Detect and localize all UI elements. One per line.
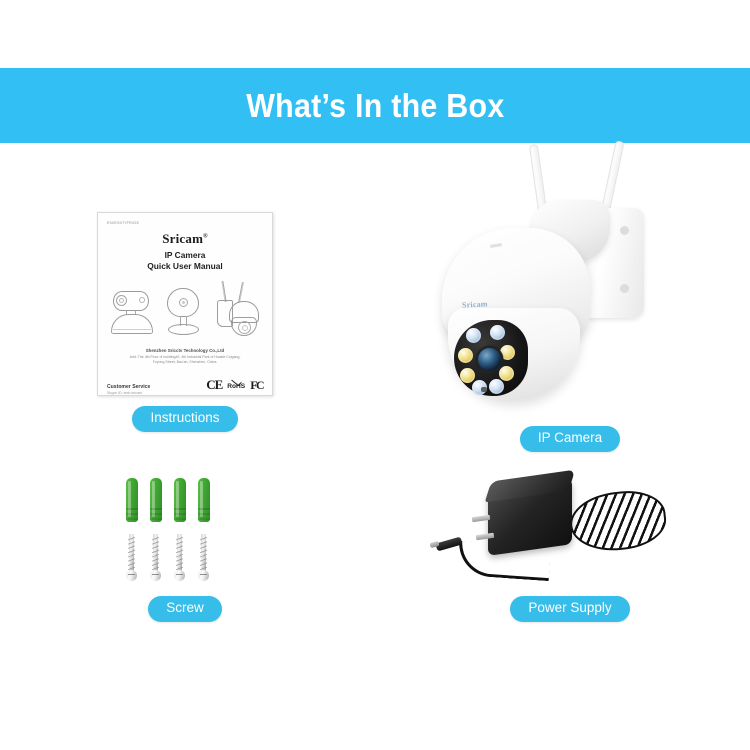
camera-led-4 [500, 345, 515, 360]
manual-brand-logo: Sricam® [107, 231, 263, 247]
ptz-dome-camera-image: Sricam [428, 140, 718, 420]
box-item-ip-camera: Sricam IP Camera [420, 140, 720, 460]
page-title: What’s In the Box [246, 87, 504, 125]
manual-address-line-2: Fuyong Street, Bao'an, Shenzhen, China. [107, 360, 263, 365]
screw-1 [126, 534, 137, 584]
instructions-artwork: EN/ES/IT/FR/DE Sricam® IP Camera Quick U… [40, 190, 330, 400]
camera-led-3 [458, 348, 473, 363]
manual-footer: Customer Service Skype ID: tech.sricam W… [107, 378, 263, 396]
camera-led-6 [499, 366, 514, 381]
outdoor-ptz-camera-icon [209, 281, 261, 341]
dc-barrel-connector [435, 537, 462, 552]
screw-2 [150, 534, 161, 584]
instruction-manual-booklet: EN/ES/IT/FR/DE Sricam® IP Camera Quick U… [97, 212, 273, 396]
screw-4 [198, 534, 209, 584]
manual-figure-row [107, 279, 263, 341]
manual-product-type: IP Camera [107, 250, 263, 260]
box-item-power-supply: Power Supply [420, 470, 720, 640]
caption-screw: Screw [148, 596, 222, 622]
header-banner: What’s In the Box [0, 68, 750, 143]
manual-document-title: Quick User Manual [107, 261, 263, 271]
box-item-screw: Screw [40, 470, 330, 640]
whats-in-the-box-infographic: What’s In the Box EN/ES/IT/FR/DE Sricam®… [0, 0, 750, 750]
box-item-instructions: EN/ES/IT/FR/DE Sricam® IP Camera Quick U… [40, 190, 330, 460]
hardware-group [40, 470, 330, 595]
screw-artwork [40, 470, 330, 590]
manual-registered-mark: ® [203, 234, 208, 240]
rohs-mark-icon: RoHS [227, 384, 245, 391]
ce-mark-icon: CE [206, 378, 222, 391]
camera-led-1 [466, 328, 481, 343]
manual-address: Add: The 4th Floor of building49, 4th In… [107, 355, 263, 366]
fcc-mark-icon: FC [250, 379, 263, 391]
manual-company-name: Shenzhen Sricctv Technology Co.,Ltd [107, 348, 263, 353]
camera-light-sensor [481, 387, 487, 392]
customer-service-skype: Skype ID: tech.sricam [107, 390, 153, 396]
caption-instructions: Instructions [132, 406, 237, 432]
power-supply-artwork [420, 470, 720, 590]
camera-led-8 [489, 379, 504, 394]
manual-languages-text: EN/ES/IT/FR/DE [107, 220, 273, 225]
power-cable-coil [567, 487, 669, 555]
screw-3 [174, 534, 185, 584]
ip-camera-artwork: Sricam [420, 140, 720, 420]
manual-brand-text: Sricam [162, 231, 203, 246]
power-adapter-image [420, 470, 720, 595]
wall-anchor-4 [198, 478, 210, 522]
manual-certification-block: CE RoHS FC SriHome App 202008-V2.0 [206, 378, 263, 396]
caption-power-supply: Power Supply [510, 596, 629, 622]
power-cable-lead [457, 541, 551, 581]
wall-anchor-1 [126, 478, 138, 522]
round-desk-camera-icon [161, 285, 205, 341]
wall-anchor-2 [150, 478, 162, 522]
wall-anchor-3 [174, 478, 186, 522]
manual-customer-service-block: Customer Service Skype ID: tech.sricam W… [107, 384, 153, 396]
caption-ip-camera: IP Camera [520, 426, 620, 452]
camera-led-5 [460, 368, 475, 383]
camera-led-2 [490, 325, 505, 340]
camera-lens [478, 348, 501, 371]
indoor-bullet-camera-icon [109, 285, 157, 341]
